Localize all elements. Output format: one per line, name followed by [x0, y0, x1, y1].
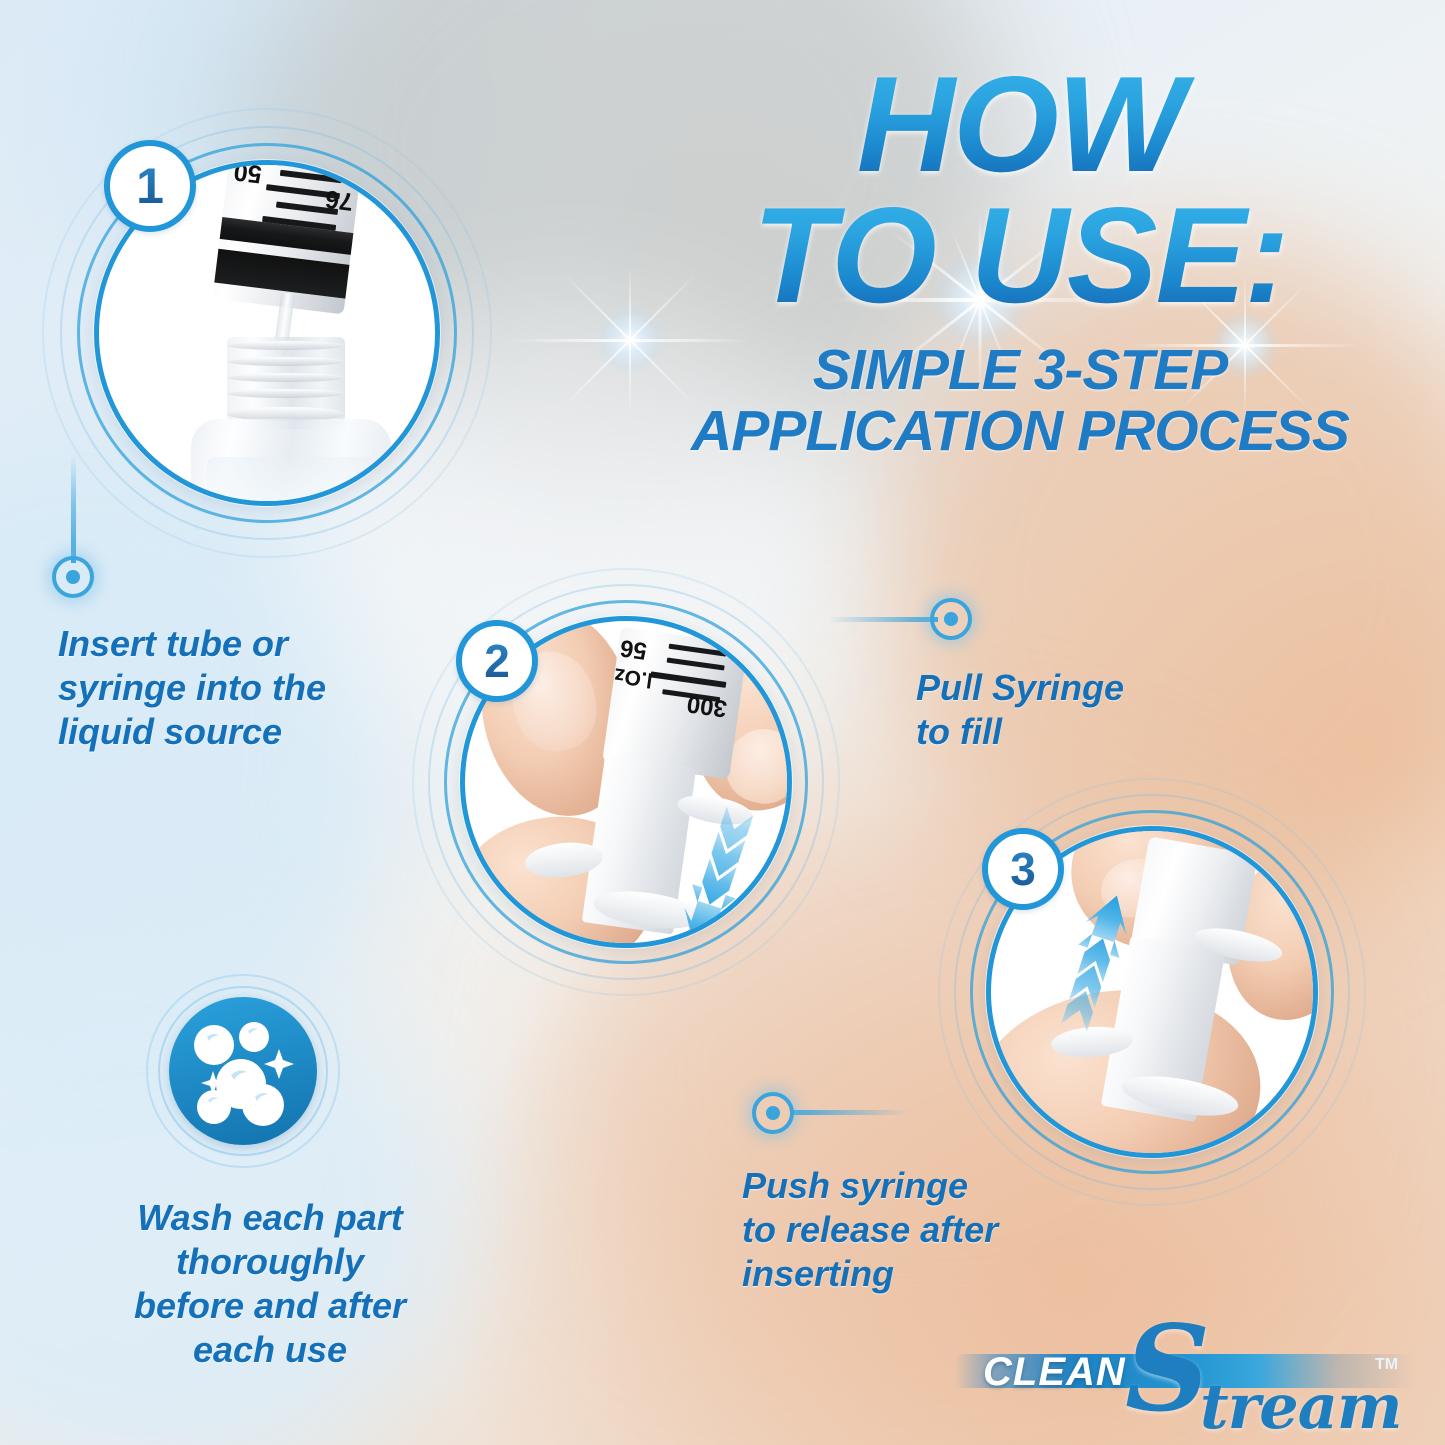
step-2-caption: Pull Syringe to fill	[916, 666, 1216, 754]
title-line-1: HOW	[620, 62, 1420, 187]
trademark-symbol: TM	[1375, 1356, 1398, 1374]
step-1-number: 1	[136, 157, 164, 215]
step-3-marker-icon	[752, 1092, 794, 1134]
syringe-barrel-photo: 56 l.Oz 300	[602, 627, 748, 779]
wash-caption-line-2: thoroughly	[100, 1240, 440, 1284]
step-1-connector-line	[71, 455, 76, 563]
step-1-marker-icon	[52, 556, 94, 598]
step-1-number-badge: 1	[104, 140, 196, 232]
bottle-thread	[227, 341, 345, 350]
step-3-number-badge: 3	[982, 828, 1064, 910]
barrel-scale-label-50: 50	[232, 160, 263, 188]
step-3-caption-line-2: to release after	[742, 1208, 1072, 1252]
title-line-2: TO USE:	[620, 193, 1420, 318]
syringe-barrel-photo: 50 76	[212, 160, 361, 314]
subtitle-line-2: APPLICATION PROCESS	[620, 401, 1420, 461]
logo-script-initial: S	[1125, 1310, 1210, 1428]
step-2-caption-line-2: to fill	[916, 710, 1216, 754]
arrow-down-icon	[671, 807, 763, 948]
barrel-scale-label-76: 76	[324, 184, 355, 216]
subtitle-line-1: SIMPLE 3-STEP	[620, 340, 1420, 400]
barrel-scale-label-300: 300	[685, 689, 729, 722]
arrow-up-icon	[1053, 889, 1139, 1031]
barrel-scale-label-56: 56	[618, 633, 648, 664]
step-3-caption: Push syringe to release after inserting	[742, 1164, 1072, 1296]
bottle-thread	[227, 357, 345, 366]
bottle-thread	[227, 389, 345, 398]
wash-caption-line-1: Wash each part	[100, 1196, 440, 1240]
step-2-number-badge: 2	[456, 620, 538, 702]
wash-note-caption: Wash each part thoroughly before and aft…	[100, 1196, 440, 1372]
bottle-neck-photo	[227, 337, 345, 429]
step-2-connector-line	[828, 617, 938, 622]
step-1-caption-line-2: syringe into the	[58, 666, 388, 710]
infographic-poster: HOW TO USE: SIMPLE 3-STEP APPLICATION PR…	[0, 0, 1445, 1445]
barrel-dark-band-2	[214, 249, 349, 299]
bottle-liquid-photo	[207, 457, 377, 506]
logo-script-rest: tream	[1200, 1370, 1402, 1443]
step-3-caption-line-3: inserting	[742, 1252, 1072, 1296]
wash-caption-line-3: before and after	[100, 1284, 440, 1328]
step-2-number: 2	[484, 634, 510, 688]
barrel-tick	[650, 671, 726, 688]
brand-logo: CLEAN S tream TM	[955, 1318, 1425, 1438]
bottle-thread	[227, 373, 345, 382]
header-block: HOW TO USE: SIMPLE 3-STEP APPLICATION PR…	[620, 62, 1420, 461]
step-3-number: 3	[1010, 842, 1036, 896]
barrel-tick	[280, 170, 342, 184]
step-2-marker-icon	[930, 598, 972, 640]
wash-caption-line-4: each use	[100, 1328, 440, 1372]
step-3-connector-line	[790, 1110, 908, 1115]
step-1-caption-line-1: Insert tube or	[58, 622, 388, 666]
step-1-caption: Insert tube or syringe into the liquid s…	[58, 622, 388, 754]
barrel-tick	[669, 644, 727, 657]
step-3-caption-line-1: Push syringe	[742, 1164, 1072, 1208]
step-1-caption-line-3: liquid source	[58, 710, 388, 754]
logo-clean-word: CLEAN	[983, 1350, 1126, 1395]
barrel-tick	[667, 657, 725, 670]
soap-bubbles-icon	[169, 997, 317, 1145]
step-2-caption-line-1: Pull Syringe	[916, 666, 1216, 710]
barrel-scale-label-oz: l.Oz	[613, 662, 654, 691]
